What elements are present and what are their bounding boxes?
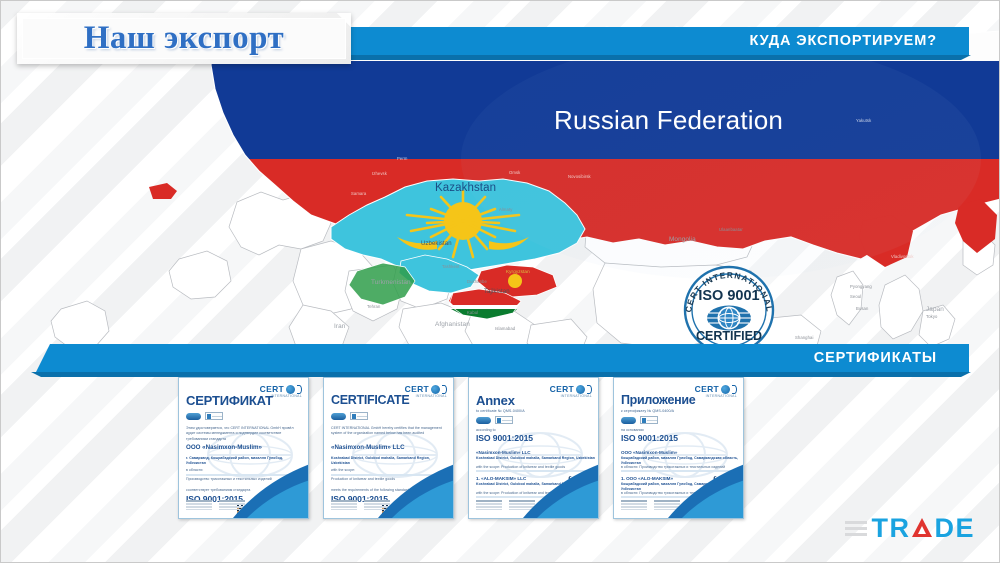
certificates-ribbon: СЕРТИФИКАТЫ [36,344,969,372]
certificate-divider [621,470,733,472]
map-label-tokyo: Tokyo [926,314,937,319]
map-label-seoul: Seoul [850,294,861,299]
certs-ribbon-shadow [31,372,971,377]
arc-icon [732,385,737,394]
certificate-badges [331,412,368,420]
certificate-logo-subtext: INTERNATIONAL [695,394,737,398]
seal-standard: ISO 9001 [698,288,759,304]
kyrgyzstan-sun [508,274,522,288]
slide-canvas: Russian Federation KazakhstanUzbekistanT… [0,0,1000,563]
certificate-standard-caption: meets the requirements of the following … [331,488,443,493]
map-label-tehran: Tehran [367,304,380,309]
russia-exclave [149,183,177,199]
globe-icon [576,385,585,394]
certificate-subtitle: к сертификату № QMS-0400/A [621,409,674,413]
certificate-divider [476,470,588,472]
arc-icon [297,385,302,394]
certificate-org: «Nasimxon-Muslim» LLC [331,444,405,451]
certificate-scope-caption: в области: [186,468,203,473]
certificate-entry-address: Koshrabad District, Gulobod mahalla, Sam… [476,482,595,487]
map-label-kyrgyzstan: Kyrgyzstan [506,269,530,274]
map-label-islamabad: Islamabad [495,326,515,331]
certificate-standard: ISO 9001:2015 [476,433,533,443]
certificate-thumbnail-row: CERT INTERNATIONAL СЕРТИФИКАТ Этим удост… [178,377,744,519]
certificate-entry-address: Koshrabad District, Gulobod mahalla, Sam… [476,456,595,461]
map-label-yakutsk: Yakutsk [856,118,871,123]
certificate-scope: Производство трикотажных и текстильных и… [186,477,298,482]
accreditation-badge-icon [621,417,636,424]
map-label-kazakhstan: Kazakhstan [435,182,496,194]
certificate-subtitle: to certificate № QMS-0400/A [476,409,525,413]
map-label-busan: Busan [856,306,868,311]
map-label-pyongyang: Pyongyang [850,284,872,289]
certificate-entry-org: ООО «Nasimxon-Muslim» [621,450,677,455]
qr-badge-icon [495,416,513,424]
map-label-vladivostok: Vladivostok [891,254,914,259]
certificates-ribbon-label: СЕРТИФИКАТЫ [814,350,937,366]
map-label-russian-federation: Russian Federation [554,105,783,136]
certificate-standard: ISO 9001:2015 [621,433,678,443]
map-label-afghanistan: Afghanistan [435,321,470,328]
seal-status: CERTIFIED [696,329,762,343]
certificate-address: Koshrabad District, Gulobod mahalla, Sam… [331,456,443,467]
map-label-samara: Samara [351,191,366,196]
certificate-divider [621,496,733,498]
certificate-card-cert-en[interactable]: CERT INTERNATIONAL CERTIFICATE CERT INTE… [323,377,454,519]
map-label-almaty: Almaty [499,207,512,212]
certificate-card-annex-en[interactable]: CERT INTERNATIONAL Annex to certificate … [468,377,599,519]
map-label-mongolia: Mongolia [669,236,696,243]
map-label-perm: Perm [397,156,407,161]
logo-letter-a-triangle-icon [911,515,933,537]
logo-bars-icon [845,521,867,536]
top-ribbon-label: КУДА ЭКСПОРТИРУЕМ? [749,33,937,49]
certificate-card-annex-ru[interactable]: CERT INTERNATIONAL Приложение к сертифик… [613,377,744,519]
arc-icon [442,385,447,394]
certificate-logo-subtext: INTERNATIONAL [405,394,447,398]
accreditation-badge-icon [186,413,201,420]
map-label-dushanbe: Dushanbe [467,279,487,284]
certificate-footer-columns [186,500,245,512]
certificate-logo-subtext: INTERNATIONAL [550,394,592,398]
certificate-badges [621,416,658,424]
certificate-card-cert-ru[interactable]: CERT INTERNATIONAL СЕРТИФИКАТ Этим удост… [178,377,309,519]
map-label-uzbekistan: Uzbekistan [421,241,452,247]
certificate-footer-columns [621,500,680,512]
map-label-iran: Iran [334,323,345,330]
accreditation-badge-icon [476,417,491,424]
qr-badge-icon [640,416,658,424]
page-title: Наш экспорт [17,13,351,64]
certificate-divider [186,474,298,476]
certificate-title: СЕРТИФИКАТ [186,394,273,407]
certificate-entry-org: 1. «ALO-MAKSIM» LLC [476,476,526,481]
map-label-tashkent: Tashkent [442,264,460,269]
certificate-body-text: Этим удостоверяется, что CERT INTERNATIO… [186,426,300,442]
certificate-badges [186,412,223,420]
certificate-badges [476,416,513,424]
qr-badge-icon [350,412,368,420]
map-label-kabul: Kabul [467,310,478,315]
certificate-logo: CERT INTERNATIONAL [550,384,592,398]
certificate-entry-org: «Nasimxon-Muslim» LLC [476,450,531,455]
logo-wordmark: TR DE [871,513,975,544]
arc-icon [587,385,592,394]
certificate-logo-text: CERT [695,384,719,394]
globe-icon [721,385,730,394]
certificate-logo-text: CERT [550,384,574,394]
logo-part-de: DE [934,513,975,544]
certificate-title: Приложение [621,394,695,407]
slide-title-plaque: Наш экспорт [17,13,351,64]
globe-icon [431,385,440,394]
globe-icon [286,385,295,394]
certificate-address: г. Самарканд, Кошрабадский район, махалл… [186,456,298,467]
map-label-ulaanbaatar: Ulaanbaatar [719,227,743,232]
certificate-org: ООО «Nasimxon-Muslim» [186,444,262,451]
certificate-entry-org: 1. ООО «ALO-MAKSIM» [621,476,673,481]
logo-part-tr: TR [871,513,910,544]
map-label-novosibirsk: Novosibirsk [568,174,591,179]
certificate-scope: Production of knitwear and textile goods [331,477,443,482]
map-label-izhevsk: Izhevsk [372,171,387,176]
certificate-title: CERTIFICATE [331,394,409,407]
map-label-tajikistan: Tajikistan [484,289,510,295]
map-label-turkmenistan: Turkmenistan [371,279,411,286]
certificate-logo: CERT INTERNATIONAL [695,384,737,398]
certificate-scope-caption: with the scope: [331,468,355,473]
certificate-signature: ᶴᶣ [712,474,722,493]
certificate-divider [476,496,588,498]
certificate-signature: ᶴᶣ [567,474,577,493]
certificate-footer-columns [476,500,535,512]
certificate-divider [331,474,443,476]
certificate-title: Annex [476,394,515,407]
trade-logo: TR DE [845,513,975,544]
map-label-omsk: Omsk [509,170,520,175]
accreditation-badge-icon [331,413,346,420]
certificate-logo: CERT INTERNATIONAL [405,384,447,398]
map-label-japan: Japan [926,306,944,313]
certificate-footer-columns [331,500,390,512]
certificate-body-text: CERT INTERNATIONAL GmbH hereby certifies… [331,426,445,437]
map-label-shanghai: Shanghai [795,335,814,340]
qr-badge-icon [205,412,223,420]
certificate-standard-caption: соответствует требованиям стандарта [186,488,298,493]
seal-globe [707,306,751,331]
